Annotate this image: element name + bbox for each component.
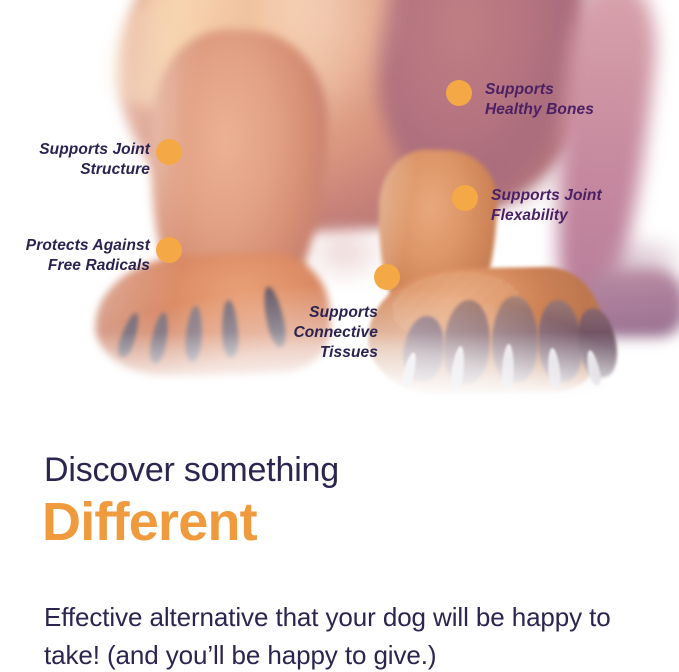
page-root: Supports Joint Structure Protects Agains… [0,0,679,672]
callout-dot-supports-connective-tissues [374,264,400,290]
headline-line-2: Different [42,494,257,551]
callout-label-supports-joint-structure: Supports Joint Structure [0,140,150,180]
callout-label-supports-healthy-bones: Supports Healthy Bones [485,80,675,120]
callout-label-supports-joint-flexability: Supports Joint Flexability [491,186,679,226]
sub-copy: Effective alternative that your dog will… [44,598,654,672]
hero-photo: Supports Joint Structure Protects Agains… [0,0,679,415]
callout-dot-protects-against-free-radicals [156,237,182,263]
callout-dot-supports-healthy-bones [446,80,472,106]
background-blur-blob [596,236,679,286]
headline-line-1: Discover something [44,452,339,489]
callout-label-protects-against-free-radicals: Protects Against Free Radicals [0,236,150,276]
right-paw-toe [492,296,538,382]
callout-label-supports-connective-tissues: Supports Connective Tissues [258,303,378,362]
callout-dot-supports-joint-structure [156,139,182,165]
callout-dot-supports-joint-flexability [452,185,478,211]
